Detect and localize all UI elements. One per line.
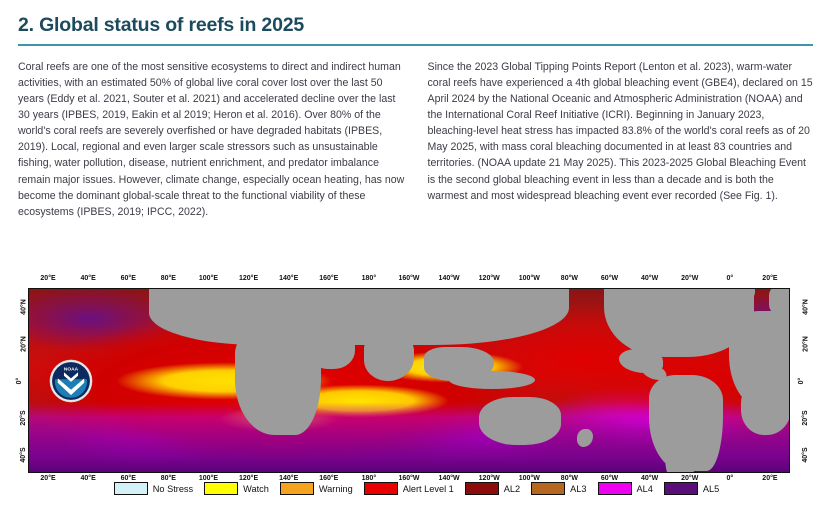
left-column-paragraph: Coral reefs are one of the most sensitiv… <box>18 59 406 220</box>
x-tick-top-14: 60°W <box>601 275 618 282</box>
y-tick-left-1: 20°N <box>20 336 27 352</box>
x-tick-bottom-17: 0° <box>726 475 733 482</box>
legend-item-al2: AL2 <box>465 482 520 495</box>
legend-item-al4: AL4 <box>598 482 653 495</box>
y-tick-right-0: 40°N <box>802 299 809 315</box>
legend-label-3: Alert Level 1 <box>403 484 454 494</box>
x-tick-top-16: 20°W <box>681 275 698 282</box>
x-tick-top-17: 0° <box>726 275 733 282</box>
landmass-africa-south <box>741 381 790 435</box>
legend-item-warning: Warning <box>280 482 353 495</box>
legend-swatch-2 <box>280 482 314 495</box>
x-tick-top-2: 60°E <box>121 275 136 282</box>
x-tick-bottom-15: 40°W <box>641 475 658 482</box>
legend-swatch-3 <box>364 482 398 495</box>
x-tick-top-11: 120°W <box>479 275 500 282</box>
right-column-paragraph: Since the 2023 Global Tipping Points Rep… <box>428 59 816 204</box>
legend-label-0: No Stress <box>153 484 193 494</box>
x-tick-top-0: 20°E <box>40 275 55 282</box>
x-tick-bottom-0: 20°E <box>40 475 55 482</box>
x-tick-top-4: 100°E <box>199 275 218 282</box>
landmass-australia <box>479 397 561 445</box>
x-tick-bottom-16: 20°W <box>681 475 698 482</box>
x-tick-bottom-6: 140°E <box>279 475 298 482</box>
y-tick-left-4: 40°S <box>20 447 27 462</box>
x-tick-top-10: 140°W <box>439 275 460 282</box>
legend-item-no-stress: No Stress <box>114 482 193 495</box>
x-tick-top-15: 40°W <box>641 275 658 282</box>
map-plot-area: NOAA <box>28 288 790 473</box>
x-tick-bottom-12: 100°W <box>519 475 540 482</box>
legend-swatch-7 <box>664 482 698 495</box>
right-text-column: Since the 2023 Global Tipping Points Rep… <box>428 59 816 204</box>
legend-label-6: AL4 <box>637 484 653 494</box>
coral-bleaching-heat-stress-map-figure: 20°E40°E60°E80°E100°E120°E140°E160°E180°… <box>8 263 825 515</box>
legend-swatch-0 <box>114 482 148 495</box>
legend-label-5: AL3 <box>570 484 586 494</box>
landmass-indonesia <box>449 371 535 389</box>
landmass-arabia <box>309 329 355 369</box>
body-columns: Coral reefs are one of the most sensitiv… <box>0 46 833 220</box>
y-tick-right-4: 40°S <box>802 447 809 462</box>
x-tick-bottom-1: 40°E <box>81 475 96 482</box>
noaa-logo-text: NOAA <box>64 366 79 372</box>
landmass-europe-west <box>179 295 269 329</box>
x-tick-bottom-8: 180° <box>362 475 376 482</box>
landmass-africa-east <box>235 325 321 435</box>
y-tick-left-3: 20°S <box>20 410 27 425</box>
x-tick-bottom-9: 160°W <box>398 475 419 482</box>
y-tick-right-1: 20°N <box>802 336 809 352</box>
x-tick-bottom-4: 100°E <box>199 475 218 482</box>
x-tick-top-13: 80°W <box>561 275 578 282</box>
x-tick-bottom-7: 160°E <box>319 475 338 482</box>
legend-label-4: AL2 <box>504 484 520 494</box>
noaa-logo-icon: NOAA <box>49 359 93 403</box>
y-tick-right-3: 20°S <box>802 410 809 425</box>
legend-label-1: Watch <box>243 484 269 494</box>
legend-swatch-5 <box>531 482 565 495</box>
x-tick-top-9: 160°W <box>398 275 419 282</box>
legend-item-watch: Watch <box>204 482 269 495</box>
y-tick-left-2: 0° <box>16 377 23 384</box>
x-tick-bottom-2: 60°E <box>121 475 136 482</box>
legend-swatch-6 <box>598 482 632 495</box>
legend-item-al5: AL5 <box>664 482 719 495</box>
x-tick-bottom-13: 80°W <box>561 475 578 482</box>
legend-swatch-4 <box>465 482 499 495</box>
x-tick-top-12: 100°W <box>519 275 540 282</box>
left-text-column: Coral reefs are one of the most sensitiv… <box>18 59 406 220</box>
x-tick-top-18: 20°E <box>762 275 777 282</box>
x-tick-top-6: 140°E <box>279 275 298 282</box>
x-tick-bottom-10: 140°W <box>439 475 460 482</box>
x-tick-top-5: 120°E <box>239 275 258 282</box>
page-header: 2. Global status of reefs in 2025 <box>0 0 833 46</box>
x-tick-bottom-14: 60°W <box>601 475 618 482</box>
map-legend: No StressWatchWarningAlert Level 1AL2AL3… <box>8 482 825 495</box>
x-tick-bottom-18: 20°E <box>762 475 777 482</box>
x-tick-bottom-3: 80°E <box>161 475 176 482</box>
y-tick-left-0: 40°N <box>20 299 27 315</box>
legend-item-al3: AL3 <box>531 482 586 495</box>
x-tick-bottom-5: 120°E <box>239 475 258 482</box>
y-tick-right-2: 0° <box>798 377 805 384</box>
legend-label-2: Warning <box>319 484 353 494</box>
x-tick-top-3: 80°E <box>161 275 176 282</box>
legend-item-alert-level-1: Alert Level 1 <box>364 482 454 495</box>
x-tick-top-8: 180° <box>362 275 376 282</box>
page-title: 2. Global status of reefs in 2025 <box>18 14 815 37</box>
legend-swatch-1 <box>204 482 238 495</box>
legend-label-7: AL5 <box>703 484 719 494</box>
x-tick-top-7: 160°E <box>319 275 338 282</box>
x-tick-bottom-11: 120°W <box>479 475 500 482</box>
x-tick-top-1: 40°E <box>81 275 96 282</box>
